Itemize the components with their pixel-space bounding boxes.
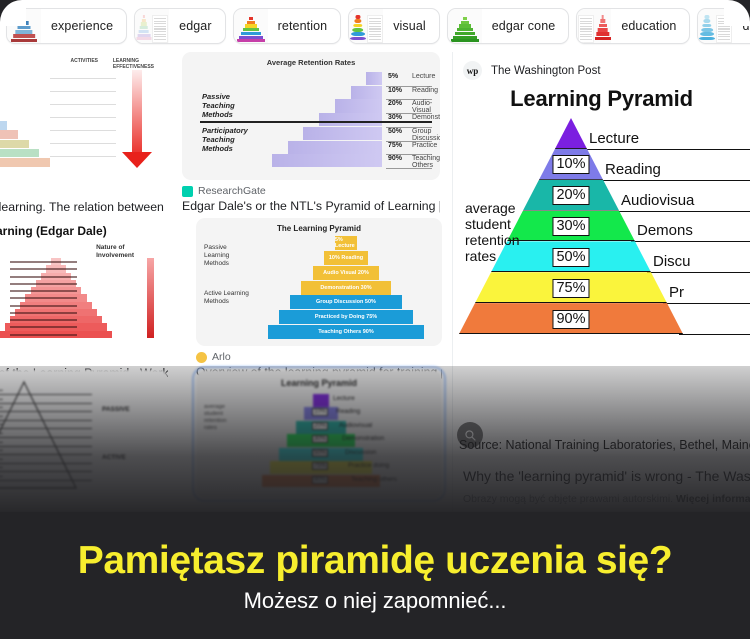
filter-chip-label: edgar cone <box>482 19 569 33</box>
filter-chip-edgar[interactable]: edgar <box>134 8 225 44</box>
pyramid-label-practice-doing: Pr <box>669 284 684 301</box>
filter-chip-edgar-cone[interactable]: edgar cone <box>447 8 570 44</box>
panel-source-header[interactable]: wp The Washington Post <box>453 52 750 84</box>
filter-chip-bar[interactable]: experienceedgarretentionvisualedgar cone… <box>0 0 750 52</box>
pyramid-row-line <box>599 180 750 181</box>
detail-result-link[interactable]: Why the 'learning pyramid' is wrong - Th… <box>463 468 750 484</box>
retention-percent-10: 10% <box>552 155 589 174</box>
image-result-card[interactable]: The Learning Pyramid5% Lecture10% Readin… <box>196 218 442 379</box>
copyright-more-info-link[interactable]: Więcej informacji <box>676 493 750 505</box>
caption-subline: Możesz o niej zapomnieć... <box>244 588 507 614</box>
filter-chip-retention[interactable]: retention <box>233 8 342 44</box>
image-detail-panel[interactable]: wp The Washington Post Learning Pyramid … <box>452 52 750 512</box>
copyright-text: Obrazy mogą być objęte prawami autorskim… <box>463 493 673 505</box>
pyramid-label-discussion: Discu <box>653 253 691 270</box>
filter-chip-label: experience <box>41 19 126 33</box>
retention-percent-20: 20% <box>552 186 589 205</box>
image-result-thumbnail[interactable]: Learning PyramidLecture10%Reading20%Audi… <box>196 370 442 498</box>
pyramid-band-lecture <box>555 118 587 149</box>
chip-thumbnail-icon <box>448 9 482 43</box>
pyramid-label-reading: Reading <box>605 161 661 178</box>
filter-chip-label: visual <box>383 19 439 33</box>
image-source-credit: Source: National Training Laboratories, … <box>459 438 750 452</box>
filter-chip-label: retention <box>268 19 341 33</box>
chip-thumbnail-icon <box>234 9 268 43</box>
image-result-source-name: ResearchGate <box>198 185 266 197</box>
washington-post-logo-icon: wp <box>463 61 482 80</box>
source-favicon-icon <box>196 352 207 363</box>
image-result-thumbnail[interactable]: ne of Learning (Edgar Dale)2 weeks d to … <box>0 218 168 346</box>
image-result-caption[interactable]: Edgar Dale's or the NTL's Pyramid of Lea… <box>182 199 440 213</box>
image-result-source-name: Arlo <box>212 351 231 363</box>
image-result-card[interactable]: ACTIVITIESLEARNINGEFFECTIVENESSid of lea… <box>0 52 168 214</box>
image-result-caption[interactable]: id of learning. The relation between ... <box>0 200 168 214</box>
filter-chip-label: education <box>611 19 689 33</box>
filter-chip-visual[interactable]: visual <box>348 8 440 44</box>
screenshot-capture-area: experienceedgarretentionvisualedgar cone… <box>0 0 750 512</box>
detail-image-title: Learning Pyramid <box>453 86 750 112</box>
retention-percent-30: 30% <box>552 217 589 236</box>
chip-thumbnail-icon <box>349 9 383 43</box>
pyramid-row-line <box>615 211 750 212</box>
image-result-source[interactable]: ResearchGate <box>182 185 440 197</box>
retention-side-label: averagestudentretentionrates <box>465 200 519 264</box>
image-result-card[interactable]: ••••••••••••••••••••••••••••••••••••••••… <box>0 370 168 498</box>
retention-percent-50: 50% <box>552 248 589 267</box>
image-result-source[interactable]: Arlo <box>196 351 442 363</box>
image-result-thumbnail[interactable]: ••••••••••••••••••••••••••••••••••••••••… <box>0 370 168 498</box>
image-result-thumbnail[interactable]: Average Retention Rates5%Lecture10%Readi… <box>182 52 440 180</box>
pyramid-label-demonstration: Demons <box>637 222 693 239</box>
pyramid-label-audiovisual: Audiovisua <box>621 192 694 209</box>
detail-image[interactable]: Learning Pyramid Lecture10%Reading20%Aud… <box>453 86 750 386</box>
image-result-card[interactable]: Average Retention Rates5%Lecture10%Readi… <box>182 52 440 213</box>
chip-thumbnail-icon <box>135 9 169 43</box>
frame-corner-top-left <box>0 0 26 26</box>
pyramid-row-line <box>583 149 750 150</box>
frame-corner-top-right <box>724 0 750 26</box>
filter-chip-education[interactable]: education <box>576 8 690 44</box>
retention-percent-90: 90% <box>552 310 589 329</box>
learning-pyramid-graphic: Lecture10%Reading20%Audiovisua30%Demons5… <box>453 116 750 341</box>
caption-headline: Pamiętasz piramidę uczenia się? <box>78 538 673 584</box>
image-result-card[interactable]: ne of Learning (Edgar Dale)2 weeks d to … <box>0 218 168 380</box>
retention-percent-75: 75% <box>552 279 589 298</box>
image-result-card[interactable]: Learning PyramidLecture10%Reading20%Audi… <box>196 370 442 498</box>
chip-thumbnail-icon <box>577 9 611 43</box>
caption-bar: Pamiętasz piramidę uczenia się? Możesz o… <box>0 512 750 639</box>
image-results-grid[interactable]: ACTIVITIESLEARNINGEFFECTIVENESSid of lea… <box>0 52 452 512</box>
image-result-thumbnail[interactable]: ACTIVITIESLEARNINGEFFECTIVENESS <box>0 52 168 180</box>
pyramid-row-line <box>679 334 750 335</box>
source-favicon-icon <box>182 186 193 197</box>
filter-chip-label: edgar <box>169 19 224 33</box>
copyright-notice: Obrazy mogą być objęte prawami autorskim… <box>463 493 750 505</box>
panel-source-name: The Washington Post <box>491 65 601 77</box>
image-result-thumbnail[interactable]: The Learning Pyramid5% Lecture10% Readin… <box>196 218 442 346</box>
pyramid-label-lecture: Lecture <box>589 130 639 147</box>
